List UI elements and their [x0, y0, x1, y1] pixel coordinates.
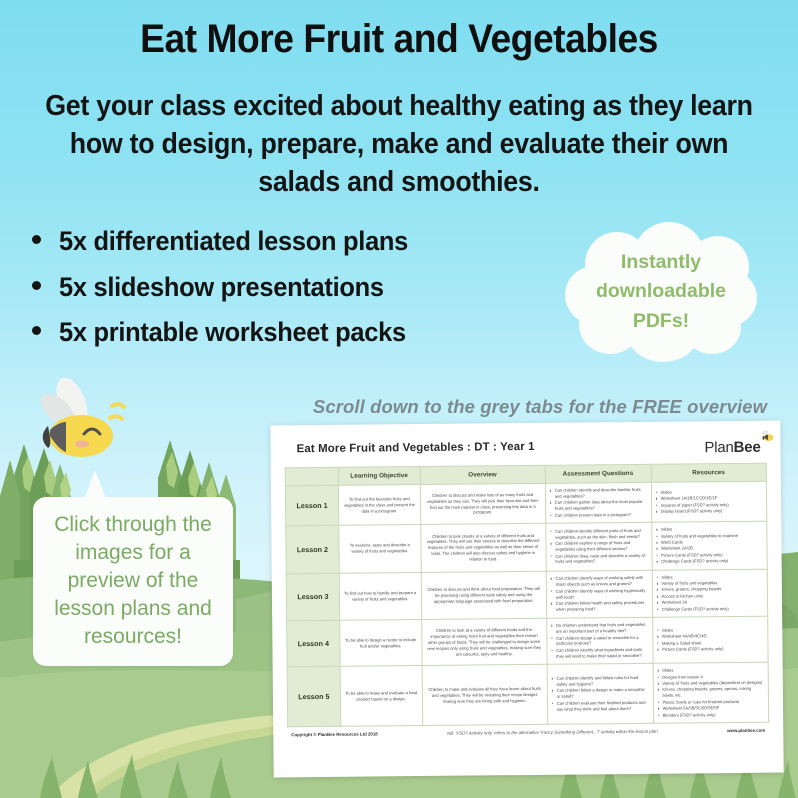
resources-cell: SlidesDesigns from lesson 4Variety of fr…: [653, 662, 769, 723]
footer-url[interactable]: www.planbee.com: [727, 728, 765, 733]
bee-mascot-icon: [26, 378, 136, 468]
objective-cell: To be able to design a recipe to include…: [340, 620, 422, 667]
resources-cell: SlidesVariety of fruits and vegetablesKn…: [652, 569, 768, 618]
assessment-cell: Can children identify ways of working sa…: [546, 570, 652, 619]
assessment-cell: Can children identify different parts of…: [545, 522, 651, 571]
list-item-label: 5x differentiated lesson plans: [59, 228, 408, 255]
list-item: Can children evaluate their finished pro…: [552, 700, 649, 713]
bee-motion-line: [112, 404, 124, 407]
list-item: Can children identify ways of working hy…: [551, 588, 648, 601]
document-title: Eat More Fruit and Vegetables : DT : Yea…: [296, 441, 534, 455]
list-item: Can children identify ways of working sa…: [551, 575, 648, 588]
table-row: Lesson 5To be able to make and evaluate …: [287, 662, 769, 726]
document-page: Eat More Fruit and Vegetables : DT : Yea…: [270, 421, 783, 778]
overview-cell: Children to make and evaluate all they h…: [422, 665, 548, 726]
cloud-badge-line2: downloadable: [563, 277, 759, 306]
list-item: Can children explore a range of fruits a…: [550, 540, 647, 553]
list-item: 5x printable worksheet packs: [26, 319, 546, 346]
copyright-text: Copyright © PlanBee Resources Ltd 2018: [291, 732, 377, 738]
list-item: Can children follow health and safety pr…: [551, 600, 648, 613]
page-subtitle: Get your class excited about healthy eat…: [45, 88, 754, 202]
scroll-caption: Scroll down to the grey tabs for the FRE…: [290, 396, 790, 418]
bee-blush: [75, 441, 89, 448]
objective-cell: To examine, taste and describe a variety…: [339, 525, 421, 573]
planbee-logo: PlanBee: [704, 439, 760, 457]
cloud-badge-line3: PDFs!: [563, 307, 759, 336]
overview-cell: Children to discuss and think about food…: [421, 571, 546, 620]
lesson-overview-table: Learning Objective Overview Assessment Q…: [285, 463, 769, 728]
list-item: Can children gather data about the most …: [550, 499, 647, 512]
table-body: Lesson 1To find out the favourite fruits…: [285, 481, 768, 727]
lesson-number-cell: Lesson 4: [287, 620, 340, 667]
lesson-number-cell: Lesson 1: [285, 485, 338, 526]
lesson-number-cell: Lesson 2: [286, 525, 339, 573]
bee-tail: [43, 426, 51, 448]
table-row: Lesson 2To examine, taste and describe a…: [286, 521, 767, 573]
overview-cell: Children to look closely at a variety of…: [420, 523, 545, 572]
feature-list: 5x differentiated lesson plans 5x slides…: [26, 228, 546, 365]
resources-cell: SlidesWorksheet 4A/4B/4C/4DMaking a Sala…: [652, 616, 768, 663]
list-item: Challenge Cards (FSD? activity only): [656, 558, 763, 565]
list-item: Can children design a salad or smoothie …: [551, 634, 648, 647]
list-item: Can children identify what ingredients a…: [551, 647, 648, 660]
bee-motion-line: [110, 416, 122, 419]
column-header-assessment: Assessment Questions: [545, 464, 651, 483]
resources-cell: SlidesWorksheet 1A/1B/1C/1D/1E/1FSquares…: [651, 481, 767, 522]
column-header-resources: Resources: [651, 463, 767, 482]
overview-cell: Children to look at a variety of differe…: [421, 618, 546, 665]
table-row: Lesson 1To find out the favourite fruits…: [285, 481, 766, 526]
table-row: Lesson 3To find out how to handle and pr…: [286, 569, 767, 621]
list-item: Picture Cards (FSD? activity only): [657, 646, 764, 653]
promo-graphic: Eat More Fruit and Vegetables Get your c…: [0, 0, 798, 798]
assessment-cell: Do children understand that fruits and v…: [546, 617, 652, 664]
list-item: 5x slideshow presentations: [26, 274, 546, 301]
brand-bold: Bee: [734, 439, 761, 456]
bullet-dot-icon: [32, 235, 41, 244]
bullet-dot-icon: [32, 281, 41, 290]
cloud-badge-line1: Instantly: [563, 248, 759, 277]
column-header-objective: Learning Objective: [338, 467, 420, 486]
lesson-number-cell: Lesson 3: [286, 573, 339, 621]
lesson-overview-preview[interactable]: Eat More Fruit and Vegetables : DT : Yea…: [270, 421, 783, 778]
list-item-label: 5x printable worksheet packs: [59, 319, 406, 346]
logo-bee-icon: [758, 430, 774, 443]
list-item: 5x differentiated lesson plans: [26, 228, 546, 255]
resources-cell: SlidesVariety of fruits and vegetables t…: [651, 521, 767, 570]
table-corner-cell: [285, 467, 338, 486]
bullet-dot-icon: [32, 326, 41, 335]
list-item: Can children identify and describe famil…: [550, 487, 647, 500]
speech-bubble[interactable]: Click through the images for a preview o…: [33, 497, 233, 666]
column-header-overview: Overview: [420, 465, 545, 484]
objective-cell: To find out the favourite fruits and veg…: [338, 485, 420, 526]
list-item: Display board (FSD? activity only): [656, 508, 763, 515]
list-item: Can children draw, taste and describe a …: [550, 552, 647, 565]
list-item: Can children follow a design to make a s…: [552, 687, 649, 700]
assessment-cell: Can children identify and follow rules f…: [547, 663, 653, 724]
lesson-number-cell: Lesson 5: [287, 667, 340, 727]
list-item: Do children understand that fruits and v…: [551, 622, 648, 635]
objective-cell: To be able to make and evaluate a food p…: [340, 666, 422, 727]
overview-cell: Children to discuss and make lists of as…: [420, 483, 545, 524]
list-item: Can children identify different parts of…: [550, 528, 647, 541]
list-item: Can children identify and follow rules f…: [551, 675, 648, 688]
cloud-badge-text: Instantly downloadable PDFs!: [563, 248, 759, 336]
footer-note: NB: 'FSD? Activity only' refers to the a…: [447, 729, 658, 736]
table-row: Lesson 4To be able to design a recipe to…: [287, 616, 768, 667]
list-item: Blenders (FSD? activity only): [658, 711, 765, 718]
objective-cell: To find out how to handle and prepare a …: [339, 572, 421, 620]
list-item: Can children present data in a pictogram…: [550, 512, 647, 519]
brand-light: Plan: [704, 439, 733, 456]
page-title: Eat More Fruit and Vegetables: [28, 18, 770, 60]
list-item: Knives, chopping boards, graters, aprons…: [657, 686, 764, 699]
list-item: Challenge Cards (FSD? activity only): [657, 605, 764, 612]
list-item-label: 5x slideshow presentations: [59, 274, 384, 301]
cloud-badge: Instantly downloadable PDFs!: [563, 222, 759, 362]
assessment-cell: Can children identify and describe famil…: [545, 482, 651, 523]
